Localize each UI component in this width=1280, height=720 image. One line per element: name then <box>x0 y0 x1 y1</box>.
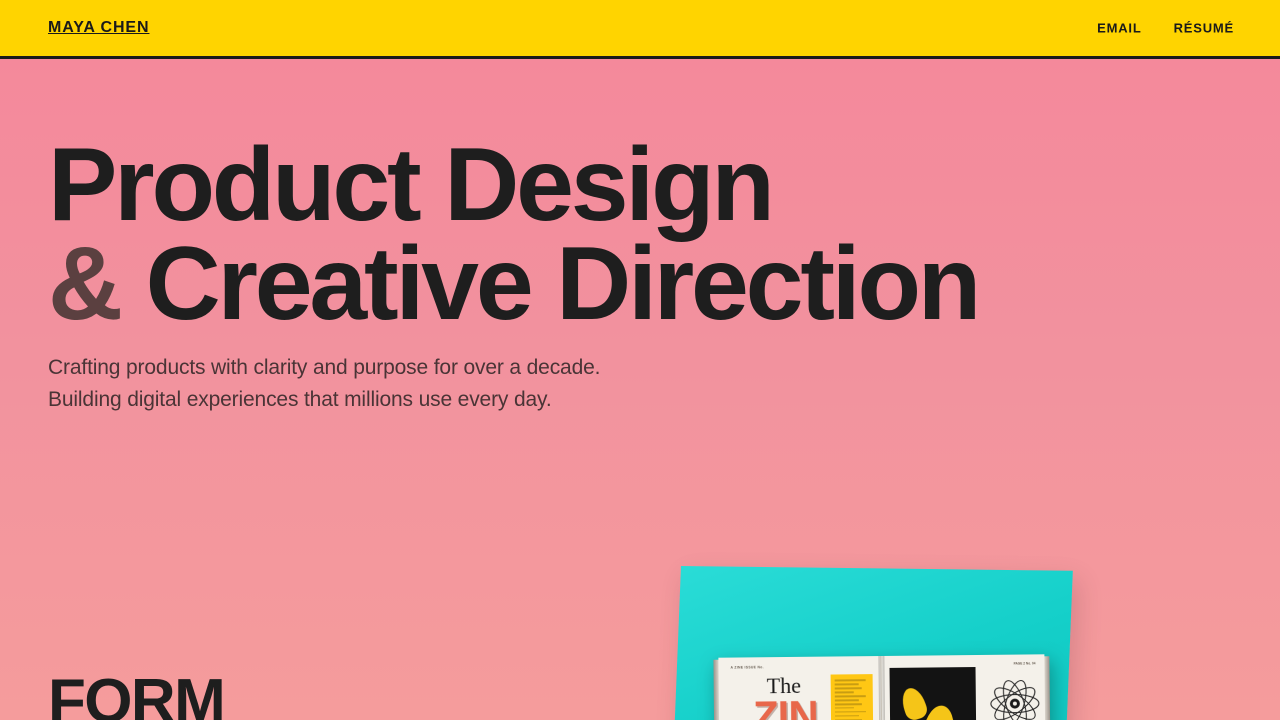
hero-section: Product Design & Creative Direction Craf… <box>0 59 1280 720</box>
zine-yellow-sidebar <box>831 674 874 720</box>
zine-text-rule <box>835 691 854 693</box>
zine-text-rule <box>835 695 866 697</box>
primary-nav: EMAIL RÉSUMÉ <box>1097 21 1234 36</box>
zine-text-rule <box>835 707 854 709</box>
zine-text-rule <box>835 699 859 701</box>
zine-text-rule <box>835 679 866 681</box>
zine-text-rule <box>835 715 859 717</box>
hero-subtitle-line-1: Crafting products with clarity and purpo… <box>48 352 600 384</box>
zine-text-rule <box>835 687 862 689</box>
section-kicker: FORM <box>48 671 224 720</box>
zine-text-rule <box>835 711 866 713</box>
hero-subtitle-line-2: Building digital experiences that millio… <box>48 384 600 416</box>
brand-wordmark[interactable]: MAYA CHEN <box>48 19 149 37</box>
headline-line-1: Product Design <box>48 136 978 235</box>
zine-text-rule <box>835 703 862 705</box>
headline-line-2-text: Creative Direction <box>120 226 978 342</box>
feature-image-zine: A ZINE ISSUE No. The ZIN <box>681 566 1073 720</box>
site-header: MAYA CHEN EMAIL RÉSUMÉ <box>0 0 1280 59</box>
zine-black-panel <box>890 667 977 720</box>
zine-text-rule <box>835 683 859 685</box>
zine-page-right: PAGE 2 No. 04 <box>881 654 1045 720</box>
page-title: Product Design & Creative Direction <box>48 136 978 334</box>
zine-folio-text: PAGE 2 No. 04 <box>1014 661 1036 666</box>
open-zine-spread: A ZINE ISSUE No. The ZIN <box>718 654 1045 720</box>
ampersand-glyph: & <box>48 226 120 342</box>
zine-title-main: ZIN <box>753 695 818 720</box>
atom-diagram-icon <box>988 676 1043 720</box>
nav-link-email[interactable]: EMAIL <box>1097 21 1141 36</box>
nav-link-resume[interactable]: RÉSUMÉ <box>1174 21 1234 36</box>
zine-page-left: A ZINE ISSUE No. The ZIN <box>718 656 882 720</box>
headline-line-2: & Creative Direction <box>48 235 978 334</box>
pear-shape-icon <box>898 685 929 720</box>
zine-masthead-text: A ZINE ISSUE No. <box>730 665 763 670</box>
hero-subtitle: Crafting products with clarity and purpo… <box>48 352 600 416</box>
